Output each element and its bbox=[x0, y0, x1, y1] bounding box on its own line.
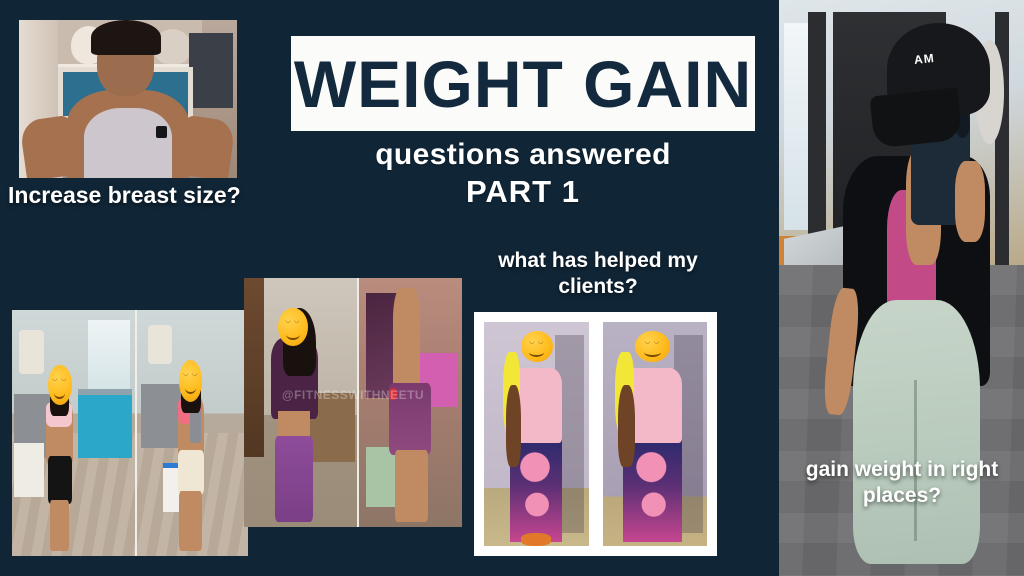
figure-before-1 bbox=[39, 369, 81, 551]
client-arm bbox=[506, 385, 521, 467]
figure-shorts bbox=[178, 450, 204, 495]
figure-before-4 bbox=[382, 283, 442, 522]
caption-increase-breast-size: Increase breast size? bbox=[8, 181, 278, 209]
figure-before-3 bbox=[264, 308, 327, 522]
room-door bbox=[244, 278, 264, 457]
caption-gain-weight-in-right-places: gain weight in right places? bbox=[788, 457, 1016, 508]
photo-webcam bbox=[19, 20, 237, 178]
cap-logo-text: AM bbox=[913, 51, 935, 67]
photo-collage-left bbox=[12, 310, 248, 556]
webcam-person-arm-left bbox=[19, 115, 79, 178]
room-bed bbox=[78, 389, 132, 458]
collage-left-panel-1 bbox=[12, 310, 135, 556]
person-hand bbox=[955, 161, 984, 242]
room-lamp bbox=[19, 330, 44, 374]
collage-left-panel-2 bbox=[135, 310, 248, 556]
caption-what-has-helped-my-clients: what has helped my clients? bbox=[478, 248, 718, 299]
room-lamp bbox=[148, 325, 172, 364]
collage-mid-panel-1 bbox=[244, 278, 357, 527]
page-title: WEIGHT GAIN bbox=[294, 51, 752, 117]
figure-legs bbox=[395, 450, 428, 522]
figure-wrist-thread bbox=[389, 388, 397, 400]
webcam-person-tank-top bbox=[84, 108, 171, 178]
webcam-headboard bbox=[189, 33, 233, 109]
figure-before-2 bbox=[170, 364, 212, 551]
smiley-face-emoji bbox=[48, 365, 71, 405]
client-figure-after bbox=[619, 335, 686, 541]
webcam-person-hair bbox=[91, 20, 161, 55]
figure-arm bbox=[393, 288, 420, 398]
photo-collage-mid: @FITNESSWITHNEETU bbox=[244, 278, 462, 527]
page-subtitle: questions answered bbox=[291, 138, 755, 172]
figure-legs bbox=[50, 500, 69, 551]
photo-collage-clients bbox=[474, 312, 717, 556]
client-panel-after bbox=[603, 322, 708, 546]
figure-shorts bbox=[48, 456, 71, 503]
smiley-face-emoji bbox=[278, 308, 307, 347]
figure-legs bbox=[179, 491, 202, 551]
client-panel-before bbox=[484, 322, 589, 546]
client-arm bbox=[618, 385, 635, 467]
title-banner: WEIGHT GAIN bbox=[291, 36, 755, 131]
smiley-face-emoji bbox=[521, 331, 553, 362]
collage-mid-panel-2 bbox=[357, 278, 462, 527]
thumbnail-canvas: Increase breast size? WEIGHT GAIN questi… bbox=[0, 0, 1024, 576]
part-label: PART 1 bbox=[291, 174, 755, 210]
client-foot bbox=[521, 533, 551, 545]
webcam-lapel-mic bbox=[156, 126, 167, 139]
smiley-face-emoji bbox=[179, 360, 202, 401]
figure-phone bbox=[190, 409, 200, 443]
figure-patterned-pants bbox=[275, 436, 313, 522]
smiley-face-emoji bbox=[635, 331, 670, 362]
client-figure-before bbox=[507, 335, 566, 541]
